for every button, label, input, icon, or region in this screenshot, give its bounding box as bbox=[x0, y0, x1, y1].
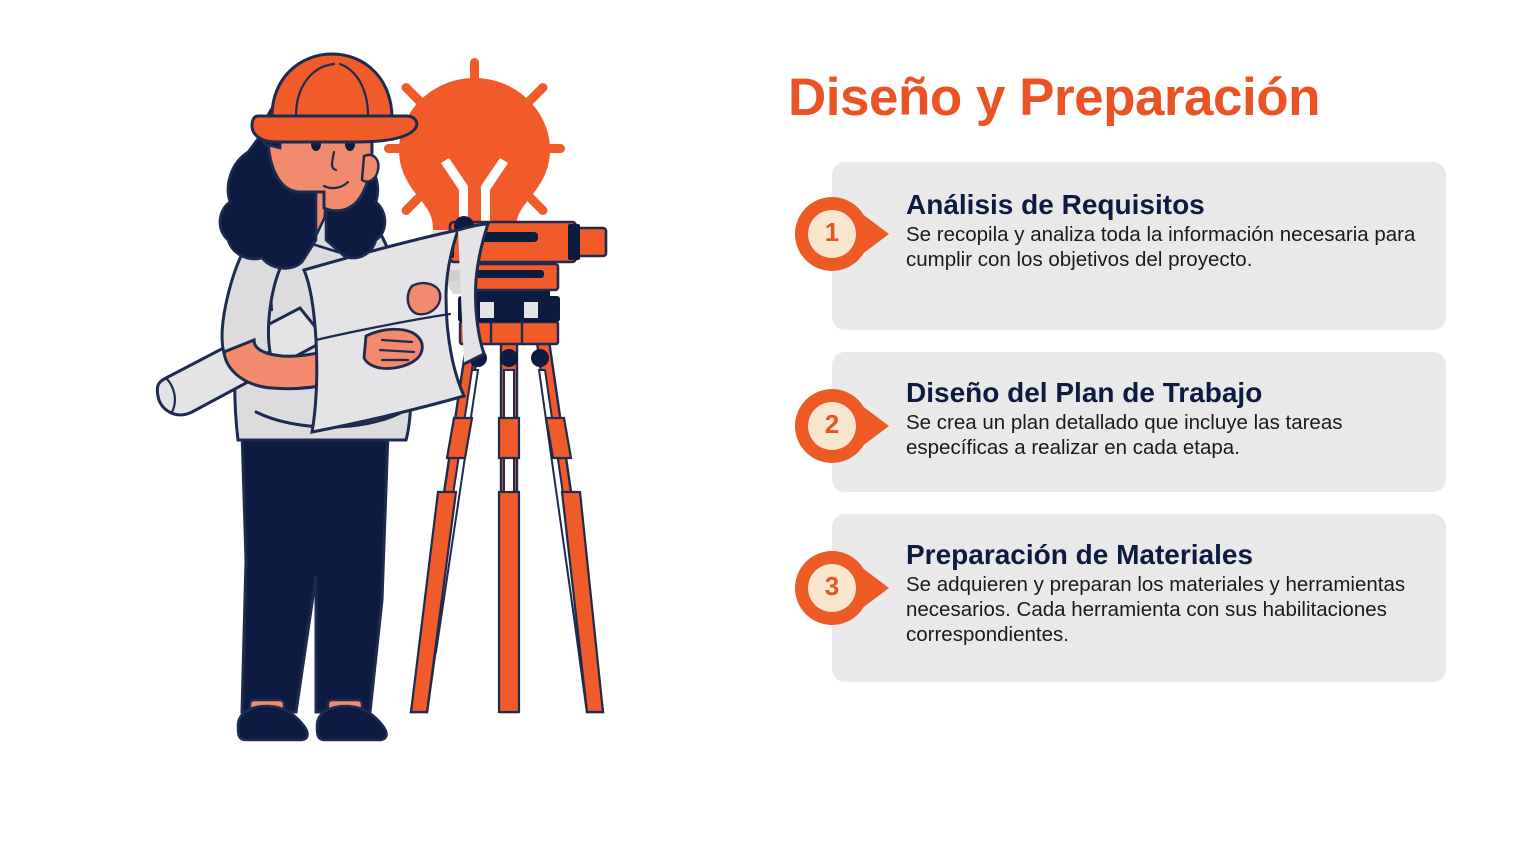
trousers bbox=[242, 432, 388, 712]
content-panel: Diseño y Preparación 1 Análisis de Requi… bbox=[786, 70, 1446, 770]
paper-tag bbox=[408, 283, 440, 314]
step-heading: Análisis de Requisitos bbox=[906, 190, 1424, 221]
step-body: Análisis de Requisitos Se recopila y ana… bbox=[906, 190, 1424, 273]
step-heading: Diseño del Plan de Trabajo bbox=[906, 378, 1424, 409]
page-title: Diseño y Preparación bbox=[788, 70, 1446, 126]
step-number: 2 bbox=[795, 389, 869, 463]
hard-hat bbox=[252, 54, 417, 142]
right-shoe bbox=[317, 706, 386, 740]
step-number: 1 bbox=[795, 197, 869, 271]
lightbulb-glass bbox=[399, 78, 550, 230]
step-item[interactable]: 1 Análisis de Requisitos Se recopila y a… bbox=[786, 162, 1446, 330]
step-badge: 2 bbox=[795, 389, 869, 463]
step-description: Se recopila y analiza toda la informació… bbox=[906, 222, 1424, 272]
step-description: Se crea un plan detallado que incluye la… bbox=[906, 410, 1424, 460]
step-body: Diseño del Plan de Trabajo Se crea un pl… bbox=[906, 378, 1424, 461]
step-item[interactable]: 3 Preparación de Materiales Se adquieren… bbox=[786, 514, 1446, 682]
step-badge: 3 bbox=[795, 551, 869, 625]
step-description: Se adquieren y preparan los materiales y… bbox=[906, 572, 1424, 647]
step-heading: Preparación de Materiales bbox=[906, 540, 1424, 571]
engineer-with-blueprints-illustration: .nv{fill:#0E1B41;} .or{fill:#F15A29;} .s… bbox=[120, 40, 760, 760]
step-item[interactable]: 2 Diseño del Plan de Trabajo Se crea un … bbox=[786, 352, 1446, 492]
step-number: 3 bbox=[795, 551, 869, 625]
step-body: Preparación de Materiales Se adquieren y… bbox=[906, 540, 1424, 648]
slide-root: .nv{fill:#0E1B41;} .or{fill:#F15A29;} .s… bbox=[0, 0, 1536, 864]
right-hand bbox=[364, 329, 422, 368]
step-badge: 1 bbox=[795, 197, 869, 271]
steps-list: 1 Análisis de Requisitos Se recopila y a… bbox=[786, 162, 1446, 682]
